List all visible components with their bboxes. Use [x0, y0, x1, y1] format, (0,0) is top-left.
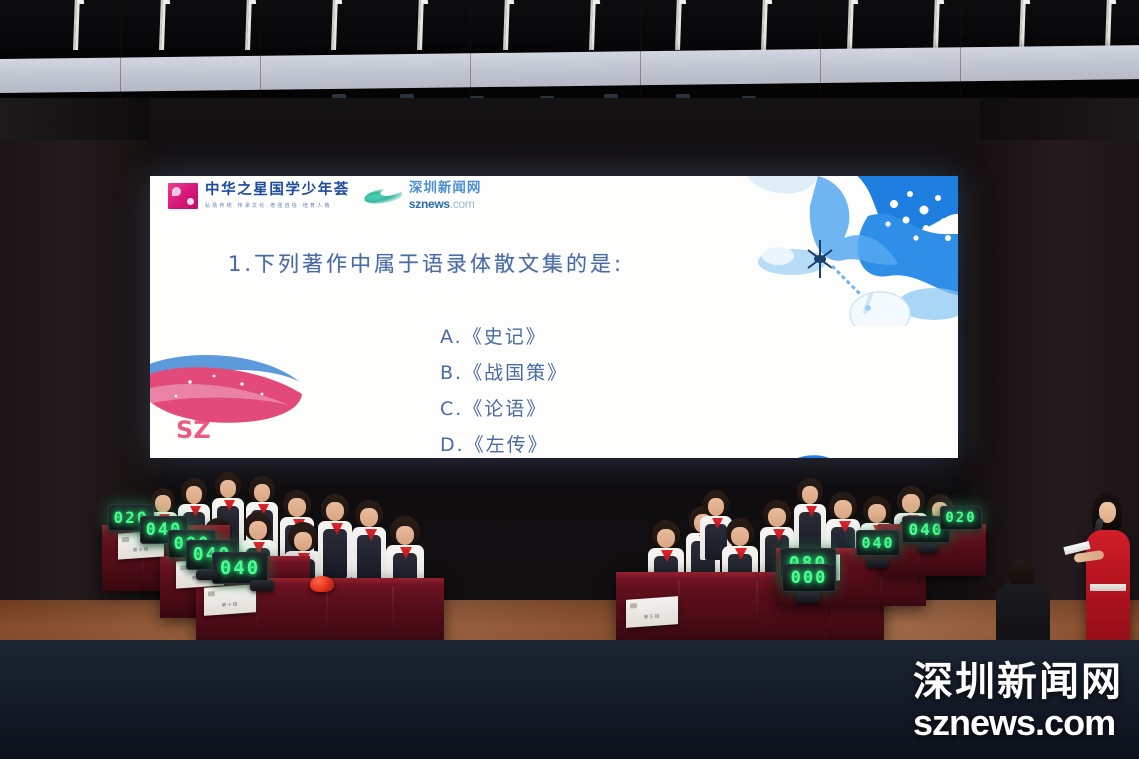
buzzer-base[interactable]: [250, 580, 274, 591]
buzzer-button[interactable]: [310, 576, 334, 592]
pink-blue-swirl-icon: SZ: [150, 348, 340, 458]
svg-text:SZ: SZ: [176, 416, 211, 444]
watermark-en: sznews.com: [913, 705, 1123, 741]
slide-logo-bar: 中华之星国学少年荟 弘扬传统 传承文化 增强自信 培育人格 深圳新闻网 szne…: [168, 182, 481, 210]
table-name-card: 第十组: [204, 584, 256, 616]
brand-subtitle: 弘扬传统 传承文化 增强自信 培育人格: [205, 202, 350, 209]
brand-title: 中华之星国学少年荟: [205, 183, 350, 199]
table-name-card: 第三组: [626, 596, 678, 628]
buzzer-base[interactable]: [918, 544, 938, 553]
card-label: 第三组: [626, 612, 678, 622]
score-display-right-5: 020: [940, 506, 982, 530]
sznews-logo: 深圳新闻网 sznews.com: [364, 182, 482, 210]
swoosh-icon: [364, 185, 404, 207]
score-display-right-2: 000: [782, 564, 836, 592]
watermark-cn: 深圳新闻网: [913, 662, 1123, 702]
blue-curved-arrow-icon: [782, 454, 852, 458]
photo-canvas: SZ 中华之星国学少年荟 弘扬传统 传承文化 增强自信 培育人格: [0, 0, 1139, 759]
buzzer-base[interactable]: [866, 558, 888, 568]
buzzer-base[interactable]: [796, 592, 820, 603]
projection-screen: SZ 中华之星国学少年荟 弘扬传统 传承文化 增强自信 培育人格: [150, 176, 958, 458]
answer-option-a: A.《史记》: [440, 322, 568, 349]
card-logo-icon: [122, 537, 129, 542]
sznews-watermark: 深圳新闻网 sznews.com: [913, 662, 1123, 741]
card-label: 第十组: [118, 545, 164, 554]
buzzer-base[interactable]: [196, 570, 218, 580]
sznews-en-label: sznews: [409, 197, 450, 211]
answer-option-b: B.《战国策》: [440, 358, 568, 385]
card-logo-icon: [208, 591, 215, 596]
card-label: 第十组: [204, 600, 256, 610]
blue-cloud-satellite-icon: [748, 176, 958, 326]
host-red-dress: [1086, 530, 1130, 658]
answer-option-c: C.《论语》: [440, 394, 568, 421]
sznews-cn-label: 深圳新闻网: [409, 182, 482, 196]
answer-option-d: D.《左传》: [440, 430, 568, 457]
sznews-tld-label: .com: [450, 197, 475, 211]
score-display-right-3: 040: [856, 530, 900, 556]
brand-seal-icon: [168, 183, 198, 209]
question-text: 1.下列著作中属于语录体散文集的是:: [228, 248, 624, 278]
card-logo-icon: [630, 603, 637, 608]
host-belt: [1090, 584, 1126, 591]
answer-options-list: A.《史记》 B.《战国策》 C.《论语》 D.《左传》: [440, 322, 568, 457]
